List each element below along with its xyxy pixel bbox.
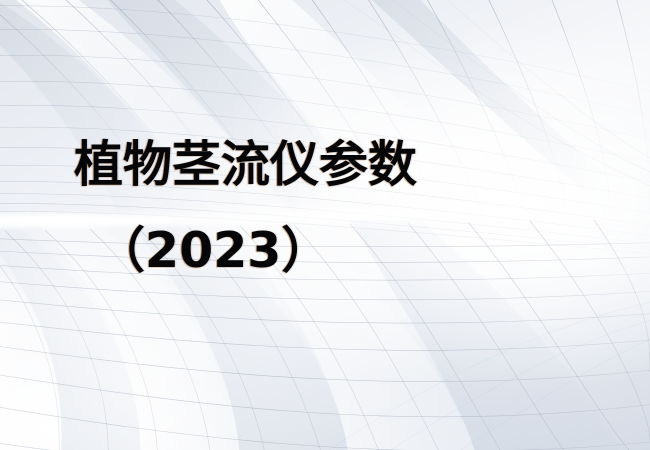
page-title-line-2: （2023） xyxy=(96,226,330,275)
mesh-striations-right xyxy=(300,0,650,450)
background-mesh-lines xyxy=(0,0,650,450)
mesh-warp-lower xyxy=(0,220,650,450)
title-slide: 植物茎流仪参数 （2023） xyxy=(0,0,650,450)
background-light-streak xyxy=(0,186,650,250)
mesh-weft-lower xyxy=(0,238,650,450)
ribbon-group-upper xyxy=(0,0,650,240)
background-ribbon-bands xyxy=(0,0,650,450)
ribbon-group-lower xyxy=(0,220,630,450)
title-block: 植物茎流仪参数 （2023） xyxy=(0,0,650,450)
mesh-warp-upper xyxy=(0,0,650,216)
page-title-line-1: 植物茎流仪参数 xyxy=(74,140,417,189)
mesh-weft-upper xyxy=(0,6,650,256)
